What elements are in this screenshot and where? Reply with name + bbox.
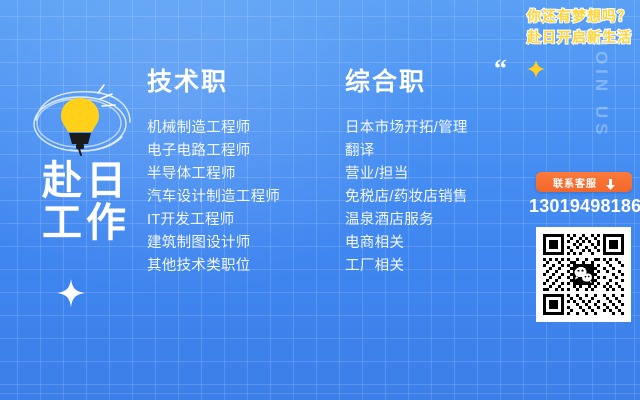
contact-support-label: 联系客服: [553, 175, 597, 190]
quote-mark-icon: “: [494, 56, 507, 82]
list-item: 翻译: [345, 140, 468, 163]
poster-canvas: 赴日 工作 技术职 机械制造工程师 电子电路工程师 半导体工程师 汽车设计制造工…: [0, 0, 640, 400]
slogan-line-2: 赴日开启新生活: [527, 27, 632, 48]
wechat-qr-code[interactable]: [536, 227, 631, 322]
list-item: IT开发工程师: [147, 209, 280, 232]
list-item: 免税店/药妆店销售: [345, 186, 468, 209]
arrow-down-icon: [606, 177, 615, 188]
join-us-side-text: JOIN US: [591, 33, 611, 143]
list-item: 汽车设计制造工程师: [147, 186, 280, 209]
list-item: 建筑制图设计师: [147, 232, 280, 255]
slogan-block: 你还有梦想吗？ 赴日开启新生活: [527, 6, 632, 48]
job-column-technical: 技术职 机械制造工程师 电子电路工程师 半导体工程师 汽车设计制造工程师 IT开…: [147, 62, 280, 278]
list-item: 工厂相关: [345, 255, 468, 278]
column-heading-general: 综合职: [345, 62, 468, 98]
contact-support-button[interactable]: 联系客服: [536, 172, 632, 192]
list-item: 其他技术类职位: [147, 255, 280, 278]
list-item: 日本市场开拓/管理: [345, 117, 468, 140]
list-item: 半导体工程师: [147, 163, 280, 186]
list-item: 电子电路工程师: [147, 140, 280, 163]
job-list-technical: 机械制造工程师 电子电路工程师 半导体工程师 汽车设计制造工程师 IT开发工程师…: [147, 117, 280, 278]
slogan-line-1: 你还有梦想吗？: [527, 6, 632, 27]
contact-phone-number[interactable]: 13019498186: [529, 196, 637, 217]
page-title-line2: 工作: [26, 202, 146, 244]
page-title-line1: 赴日: [26, 160, 146, 202]
list-item: 营业/担当: [345, 163, 468, 186]
job-column-general: 综合职 日本市场开拓/管理 翻译 营业/担当 免税店/药妆店销售 温泉酒店服务 …: [345, 62, 468, 278]
lightbulb-icon: [22, 82, 140, 160]
page-title: 赴日 工作: [26, 160, 146, 244]
list-item: 电商相关: [345, 232, 468, 255]
sparkle-star-icon: [527, 60, 545, 78]
list-item: 机械制造工程师: [147, 117, 280, 140]
list-item: 温泉酒店服务: [345, 209, 468, 232]
job-list-general: 日本市场开拓/管理 翻译 营业/担当 免税店/药妆店销售 温泉酒店服务 电商相关…: [345, 117, 468, 278]
column-heading-technical: 技术职: [147, 62, 280, 98]
sparkle-star-icon: [56, 278, 86, 308]
